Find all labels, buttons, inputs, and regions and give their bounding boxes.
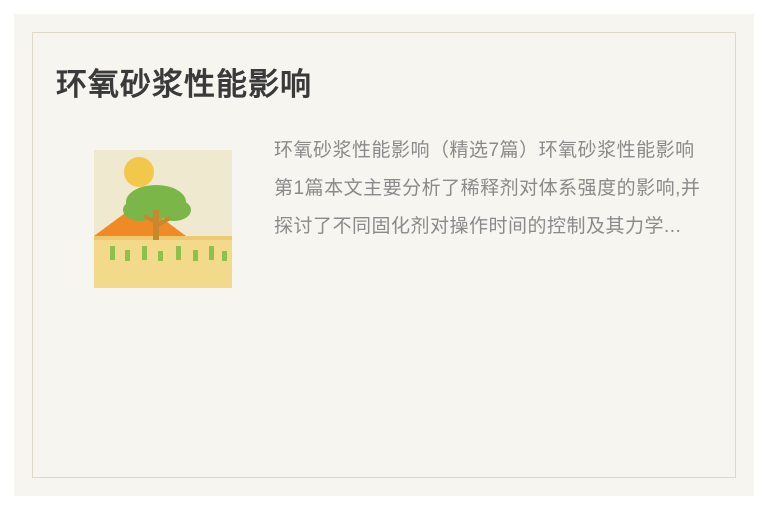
article-thumbnail [94, 150, 232, 288]
landscape-illustration-icon [94, 150, 232, 288]
article-content: 环氧砂浆性能影响（精选7篇）环氧砂浆性能影响 第1篇本文主要分析了稀释剂对体系强… [56, 132, 712, 288]
article-card: 环氧砂浆性能影响 [14, 14, 754, 496]
page-title: 环氧砂浆性能影响 [56, 66, 312, 103]
article-excerpt: 环氧砂浆性能影响（精选7篇）环氧砂浆性能影响 第1篇本文主要分析了稀释剂对体系强… [274, 132, 702, 246]
